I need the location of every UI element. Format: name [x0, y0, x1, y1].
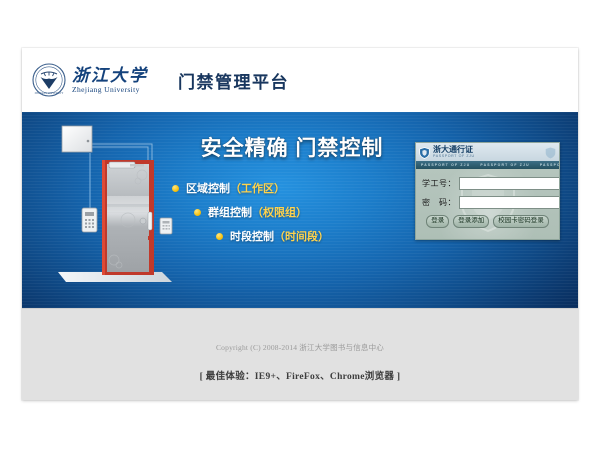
login-panel-title-en: PASSPORT OF ZJU: [433, 155, 475, 159]
access-control-door-diagram-icon: [44, 120, 184, 300]
student-staff-id-input[interactable]: [459, 177, 560, 190]
page-container: ZHEJIANG UNIVERSITY 浙江大学 Zhejiang Univer…: [22, 48, 578, 400]
ribbon-text: PASSPORT OF ZJU: [475, 163, 534, 167]
logo-text-en: Zhejiang University: [72, 86, 148, 94]
password-label: 密 码：: [422, 197, 459, 208]
student-staff-id-label: 学工号：: [422, 178, 459, 189]
logo-text-cn: 浙江大学: [72, 67, 148, 84]
login-panel: 浙大通行证 PASSPORT OF ZJU PASSPORT OF ZJU PA…: [415, 142, 560, 240]
site-header: ZHEJIANG UNIVERSITY 浙江大学 Zhejiang Univer…: [22, 48, 578, 112]
logo-wordmark: 浙江大学 Zhejiang University: [72, 67, 148, 94]
list-item-accent: （工作区）: [230, 180, 285, 196]
svg-text:ZHEJIANG UNIVERSITY: ZHEJIANG UNIVERSITY: [35, 92, 64, 95]
list-item: 区域控制 （工作区）: [172, 180, 412, 196]
list-item-accent: （时间段）: [274, 228, 329, 244]
ribbon-text: PASSPORT OF ZJU: [416, 163, 475, 167]
form-row-student-staff-id: 学工号：: [422, 177, 553, 190]
banner-copy: 安全精确 门禁控制 区域控制 （工作区） 群组控制 （权限组） 时段控制 （时间…: [172, 132, 412, 252]
list-item: 群组控制 （权限组）: [172, 204, 412, 220]
zju-passport-shield-icon: [419, 146, 430, 158]
zju-passport-shield-decor-icon: [545, 146, 556, 158]
list-item-label: 区域控制: [186, 180, 230, 196]
list-item-label: 群组控制: [208, 204, 252, 220]
zhejiang-university-seal-icon: ZHEJIANG UNIVERSITY: [32, 63, 66, 97]
login-form: 学工号： 密 码： 登录 登录添加 校园卡密码登录: [416, 169, 559, 240]
site-footer: Copyright (C) 2008-2014 浙江大学图书与信息中心 [ 最佳…: [22, 308, 578, 400]
list-item-accent: （权限组）: [252, 204, 307, 220]
login-add-button[interactable]: 登录添加: [453, 215, 489, 228]
banner-headline: 安全精确 门禁控制: [172, 132, 412, 162]
login-panel-title-cn: 浙大通行证: [433, 146, 475, 154]
yellow-dot-icon: [194, 209, 201, 216]
yellow-dot-icon: [172, 185, 179, 192]
ribbon-text: PASSPORT OF ZJU: [535, 163, 559, 167]
login-panel-ribbon: PASSPORT OF ZJU PASSPORT OF ZJU PASSPORT…: [416, 161, 559, 169]
hero-banner: 安全精确 门禁控制 区域控制 （工作区） 群组控制 （权限组） 时段控制 （时间…: [22, 112, 578, 308]
campus-card-password-login-button[interactable]: 校园卡密码登录: [493, 215, 549, 228]
login-panel-title: 浙大通行证 PASSPORT OF ZJU: [433, 146, 475, 159]
footer-browser-note: [ 最佳体验：IE9+、FireFox、Chrome浏览器 ]: [22, 368, 578, 382]
form-row-password: 密 码：: [422, 196, 553, 209]
login-button-group: 登录 登录添加 校园卡密码登录: [422, 215, 553, 228]
footer-copyright: Copyright (C) 2008-2014 浙江大学图书与信息中心: [22, 342, 578, 353]
page-title: 门禁管理平台: [178, 68, 289, 93]
yellow-dot-icon: [216, 233, 223, 240]
university-logo[interactable]: ZHEJIANG UNIVERSITY 浙江大学 Zhejiang Univer…: [32, 63, 148, 97]
login-panel-titlebar: 浙大通行证 PASSPORT OF ZJU: [416, 143, 559, 161]
list-item: 时段控制 （时间段）: [172, 228, 412, 244]
password-input[interactable]: [459, 196, 560, 209]
banner-feature-list: 区域控制 （工作区） 群组控制 （权限组） 时段控制 （时间段）: [172, 180, 412, 244]
login-button[interactable]: 登录: [426, 215, 449, 228]
list-item-label: 时段控制: [230, 228, 274, 244]
